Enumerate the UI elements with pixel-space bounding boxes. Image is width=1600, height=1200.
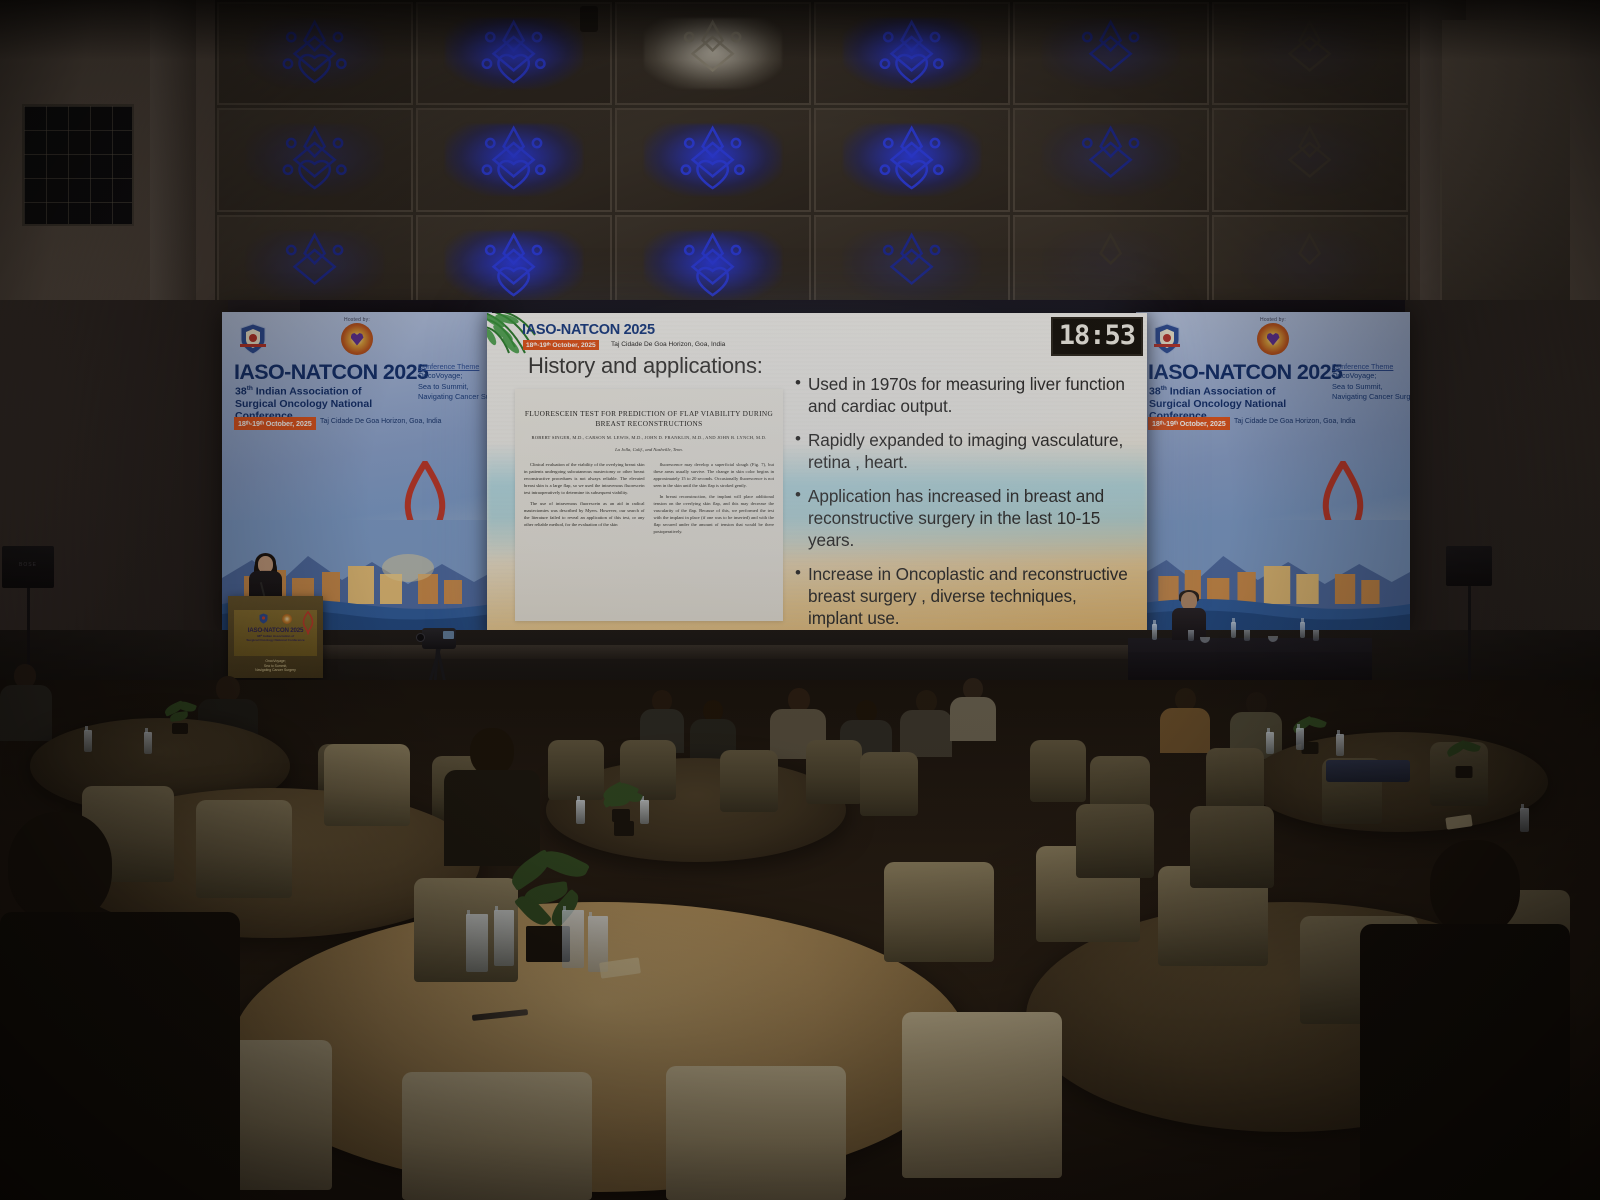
slide-bullet-list: Used in 1970s for measuring liver functi…	[793, 373, 1129, 641]
banquet-chair	[806, 740, 862, 804]
banquet-chair	[1206, 748, 1264, 814]
water-bottle	[144, 732, 152, 754]
audience-member	[900, 690, 952, 756]
water-bottle	[576, 800, 585, 824]
podium-theme-2: Sea to Summit,	[264, 664, 287, 668]
banquet-chair	[1076, 804, 1154, 878]
water-bottle	[1231, 622, 1236, 638]
water-bottle	[494, 910, 514, 966]
podium-theme-1: OncoVoyage;	[265, 659, 285, 663]
banner-title-right: IASO-NATCON 2025	[1148, 362, 1342, 384]
projection-screen: IASO-NATCON 2025 18ᵗʰ-19ᵗʰ October, 2025…	[487, 313, 1147, 643]
article-affiliation: La Jolla, Calif., and Nashville, Tenn.	[524, 447, 774, 452]
table-centerpiece-plant	[1442, 740, 1486, 778]
audience-member-foreground	[0, 812, 240, 1200]
journal-article-clipping: FLUORESCEIN TEST FOR PREDICTION OF FLAP …	[515, 389, 783, 621]
backdrop-banner-right: Hosted by: IASO-NATCON 2025 38th Indian …	[1136, 312, 1410, 632]
article-para-2: The use of intravenous fluorescein as an…	[524, 500, 645, 528]
audience-member	[1160, 688, 1210, 752]
podium-subtitle: 38ᵗʰ Indian Association of Surgical Onco…	[246, 634, 304, 642]
theme-line-1: OncoVoyage;	[418, 371, 462, 380]
article-authors: ROBERT SINGER, M.D., CARSON M. LEWIS, M.…	[524, 435, 774, 442]
article-column-left: Clinical evaluation of the viability of …	[524, 461, 645, 540]
water-bottle	[1300, 622, 1305, 638]
article-para-3: fluorescence may develop a superficial s…	[654, 461, 775, 489]
speaker-podium: IASO-NATCON 2025 38ᵗʰ Indian Association…	[228, 596, 323, 678]
podium-sub2: Surgical Oncology National Conference	[246, 638, 304, 642]
podium-logos	[259, 613, 292, 624]
water-bottle	[1296, 728, 1304, 750]
pa-speaker-stand-right	[1468, 586, 1471, 681]
table-centerpiece-plant	[1288, 716, 1332, 754]
slide-brand-title: IASO-NATCON 2025	[522, 322, 655, 338]
pa-speaker-left: BOSE	[2, 546, 54, 588]
institution-crest-icon-right	[1152, 322, 1182, 356]
heart-in-circle-logo-icon	[341, 323, 373, 355]
heart-in-circle-logo-icon-right	[1257, 323, 1289, 355]
article-para-1: Clinical evaluation of the viability of …	[524, 461, 645, 496]
slide-date-badge: 18ᵗʰ-19ᵗʰ October, 2025	[523, 340, 599, 350]
slide-bullet-4: Increase in Oncoplastic and reconstructi…	[793, 563, 1129, 629]
conference-bag	[1326, 760, 1410, 782]
countdown-clock: 18:53	[1051, 317, 1143, 356]
banner-theme-text-right: OncoVoyage; Sea to Summit, Navigating Ca…	[1332, 371, 1410, 403]
water-bottle	[1152, 624, 1157, 640]
banquet-chair	[902, 1012, 1062, 1178]
slide-heading: History and applications:	[528, 353, 763, 379]
article-title: FLUORESCEIN TEST FOR PREDICTION OF FLAP …	[524, 409, 774, 430]
water-bottle	[1520, 808, 1529, 832]
ceiling-shadow	[0, 0, 1600, 60]
banner-edition-number: 38	[235, 386, 247, 398]
article-para-4: In breast reconstruction, the implant wi…	[654, 493, 775, 535]
podium-title: IASO-NATCON 2025	[248, 627, 303, 634]
podium-crest-icon	[259, 613, 268, 624]
podium-theme-text: OncoVoyage; Sea to Summit, Navigating Ca…	[228, 659, 323, 673]
side-window-left	[22, 104, 134, 226]
banquet-chair	[548, 740, 604, 800]
slide-bullet-1: Used in 1970s for measuring liver functi…	[793, 373, 1129, 417]
water-bottle	[466, 914, 488, 972]
audience-member-foreground	[444, 728, 540, 864]
article-column-right: fluorescence may develop a superficial s…	[654, 461, 775, 540]
theme-line-2: Sea to Summit,	[418, 382, 469, 391]
banner-subtitle-rest-right: Indian Association of	[1167, 386, 1276, 398]
side-window-right	[1440, 20, 1570, 320]
stage-drape-left	[0, 300, 228, 660]
banquet-chair	[884, 862, 994, 962]
slide-bullet-2: Rapidly expanded to imaging vasculature,…	[793, 429, 1129, 473]
theme-line-3-right: Navigating Cancer Surgery	[1332, 392, 1410, 401]
banner-title: IASO-NATCON 2025	[234, 362, 428, 384]
theme-line-2-right: Sea to Summit,	[1332, 382, 1383, 391]
camera-lens-icon	[416, 633, 425, 642]
banquet-chair	[666, 1066, 846, 1200]
water-bottle	[1266, 732, 1274, 754]
audience-member	[950, 678, 996, 740]
conference-hall-scene: Hosted by: IASO-NATCON 2025 38th Indian …	[0, 0, 1600, 1200]
banquet-chair	[1190, 806, 1274, 888]
banner-theme-label: Conference Theme	[418, 362, 479, 371]
banner-date-badge: 18ᵗʰ-19ᵗʰ October, 2025	[234, 417, 316, 430]
water-bottle	[562, 910, 584, 968]
drinking-glass	[1313, 630, 1319, 641]
institution-crest-icon	[238, 322, 268, 356]
article-columns: Clinical evaluation of the viability of …	[524, 461, 774, 540]
theme-line-3: Navigating Cancer Surgery	[418, 392, 492, 401]
banner-subtitle-rest: Indian Association of	[253, 386, 362, 398]
stage-drape-right	[1405, 300, 1600, 665]
banner-edition-number-right: 38	[1149, 386, 1161, 398]
banner-venue-right: Taj Cidade De Goa Horizon, Goa, India	[1234, 418, 1355, 425]
water-bottle	[84, 730, 92, 752]
banner-date-badge-right: 18ᵗʰ-19ᵗʰ October, 2025	[1148, 417, 1230, 430]
theme-line-1-right: OncoVoyage;	[1332, 371, 1376, 380]
podium-theme-3: Navigating Cancer Surgery	[255, 668, 296, 672]
banquet-chair	[720, 750, 778, 812]
audience-member-foreground	[1360, 840, 1570, 1200]
banquet-chair	[402, 1072, 592, 1200]
table-centerpiece-plant	[598, 788, 650, 836]
drinking-glass	[1188, 630, 1194, 641]
banner-theme-label-right: Conference Theme	[1332, 362, 1393, 371]
podium-heart-logo-icon	[282, 614, 292, 624]
banquet-chair	[860, 752, 918, 816]
banquet-chair	[1030, 740, 1086, 802]
video-camera	[422, 628, 456, 649]
presentation-slide: IASO-NATCON 2025 18ᵗʰ-19ᵗʰ October, 2025…	[487, 313, 1147, 643]
podium-ribbon-icon	[300, 611, 316, 635]
drinking-glass	[1244, 630, 1250, 641]
audience-member	[0, 664, 52, 740]
banner-venue: Taj Cidade De Goa Horizon, Goa, India	[320, 418, 441, 425]
banquet-chair	[324, 744, 410, 826]
slide-venue: Taj Cidade De Goa Horizon, Goa, India	[611, 341, 725, 348]
water-bottle	[1336, 734, 1344, 756]
camera-flip-screen	[443, 631, 454, 639]
slide-bullet-3: Application has increased in breast and …	[793, 485, 1129, 551]
pa-speaker-brand-label: BOSE	[19, 562, 37, 568]
pa-speaker-right	[1446, 546, 1492, 586]
table-centerpiece-plant	[160, 700, 200, 734]
banner-theme-text: OncoVoyage; Sea to Summit, Navigating Ca…	[418, 371, 492, 403]
